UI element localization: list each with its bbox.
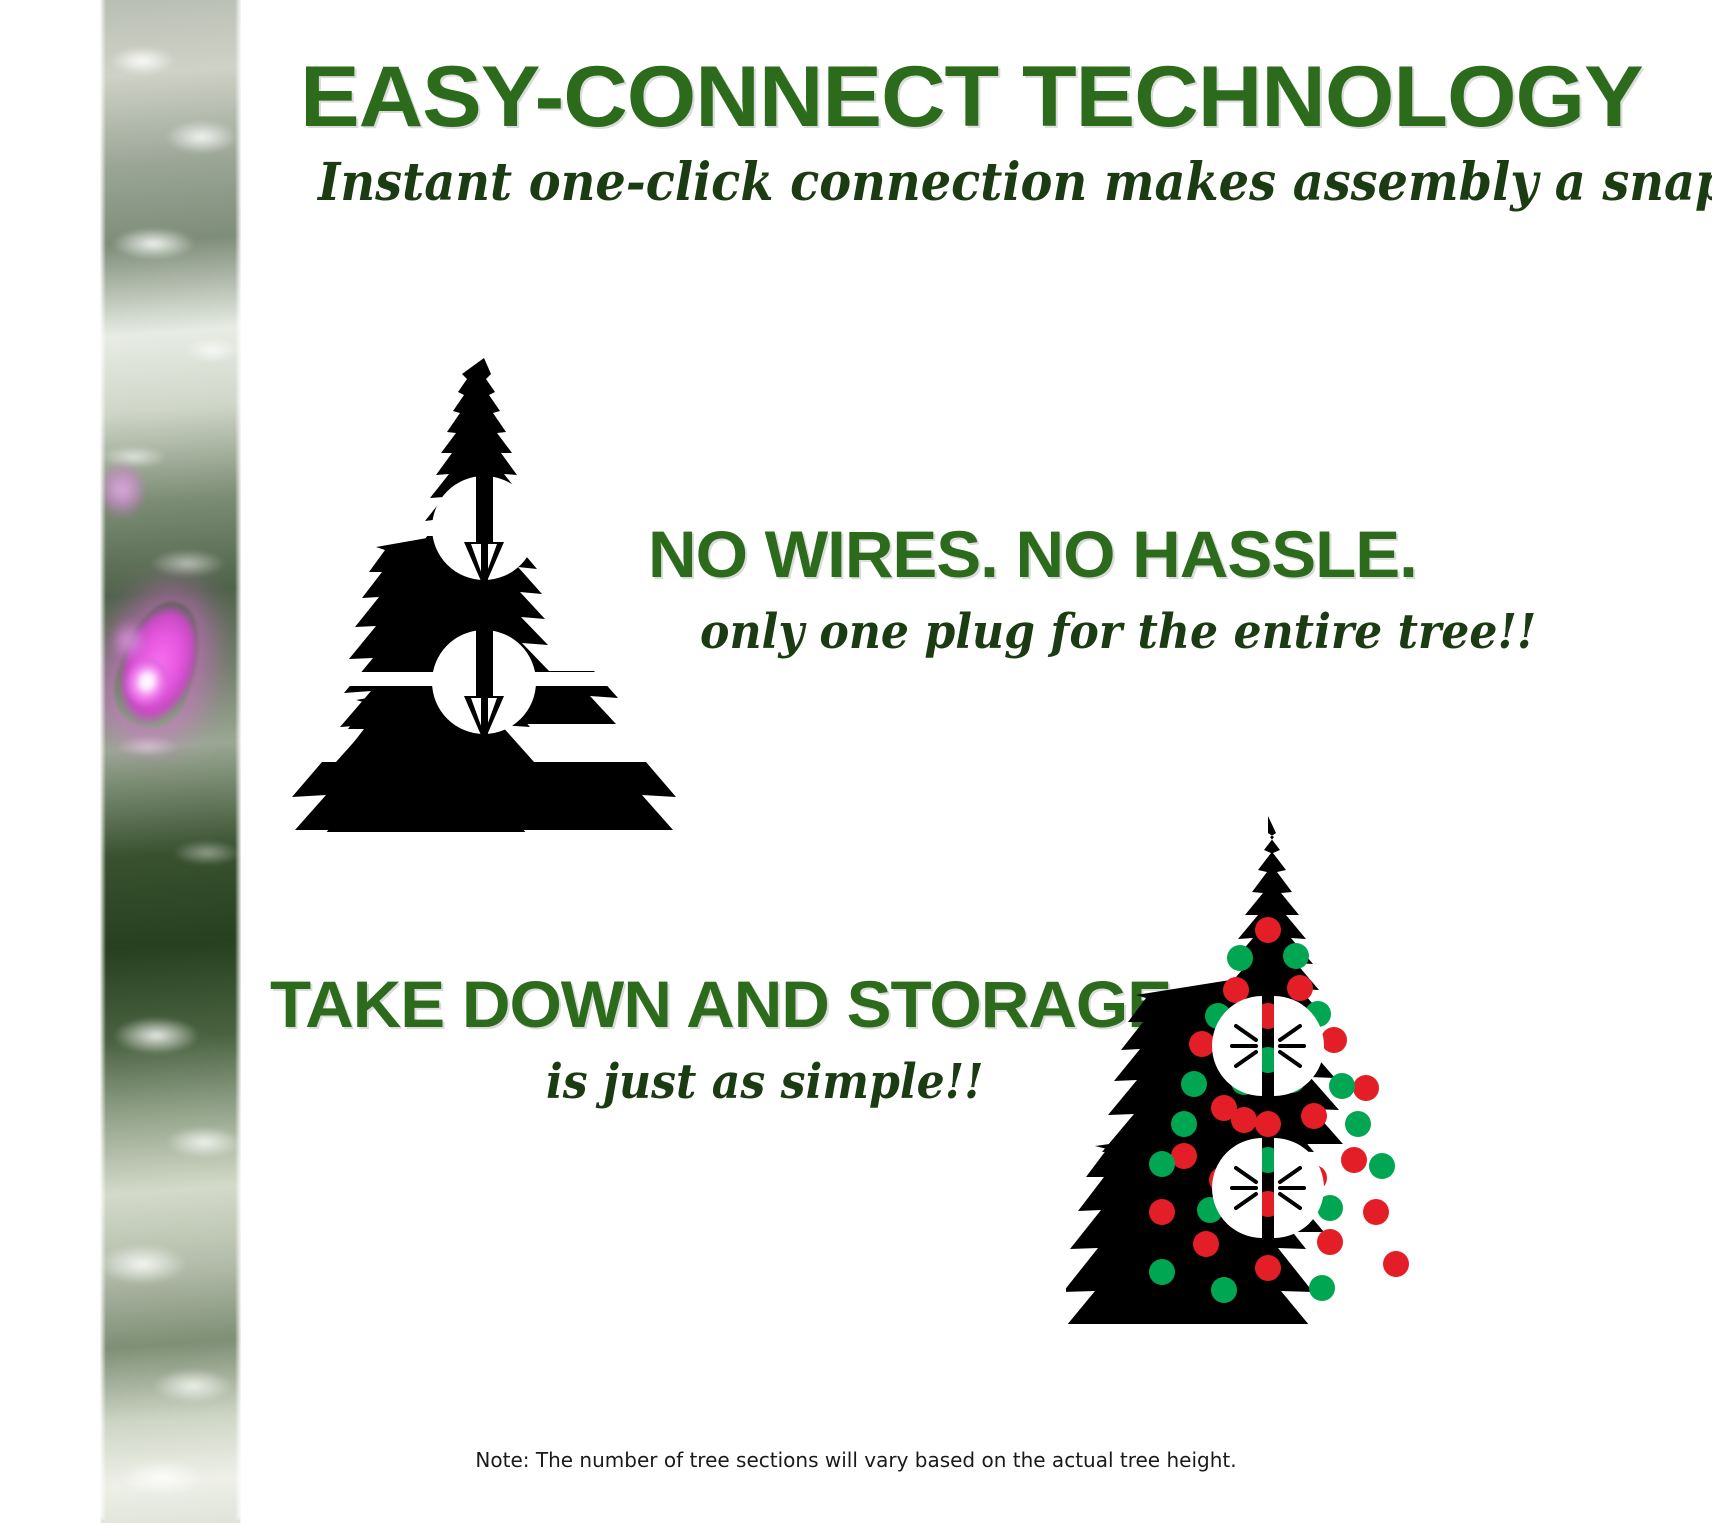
take-down-headline: TAKE DOWN AND STORAGE	[270, 966, 1171, 1042]
no-wires-headline: NO WIRES. NO HASSLE.	[648, 516, 1417, 592]
led-bulb-glow-small-lower	[114, 620, 144, 662]
photo-left-edge-fade	[100, 0, 106, 1523]
snowy-pine-photo	[100, 0, 241, 1523]
footnote-text: Note: The number of tree sections will v…	[0, 1448, 1712, 1472]
photo-right-edge-fade	[235, 0, 241, 1523]
snow-layer	[100, 0, 241, 1523]
decorated-tree-diagram	[1066, 812, 1470, 1324]
tree-section-diagram	[278, 352, 690, 832]
tree-silhouette-shape	[282, 358, 686, 832]
page-title: EASY-CONNECT TECHNOLOGY	[300, 48, 1643, 147]
led-bulb-glow-small-upper	[102, 462, 142, 518]
promo-banner: EASY-CONNECT TECHNOLOGY Instant one-clic…	[0, 0, 1712, 1523]
page-subtitle: Instant one-click connection makes assem…	[318, 152, 1712, 213]
tree-section-diagram-svg	[278, 352, 690, 832]
decorated-tree-diagram-svg	[1066, 812, 1470, 1324]
no-wires-subline: only one plug for the entire tree!!	[700, 604, 1536, 660]
take-down-subline: is just as simple!!	[546, 1054, 983, 1110]
